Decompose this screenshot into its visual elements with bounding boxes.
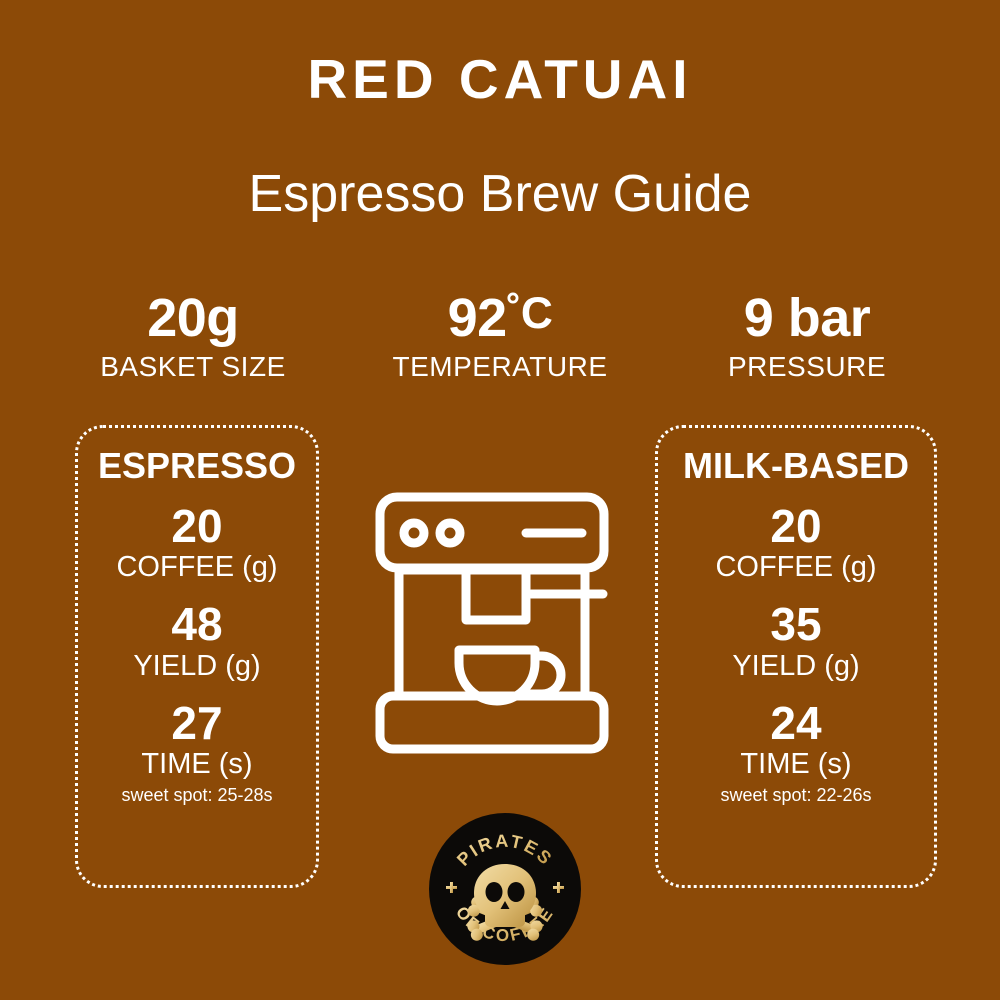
page-subtitle: Espresso Brew Guide xyxy=(0,168,1000,220)
metric-coffee: 20 COFFEE (g) xyxy=(116,502,277,585)
metric-time: 24 TIME (s) sweet spot: 22-26s xyxy=(720,699,871,806)
metric-yield-value: 48 xyxy=(133,600,260,648)
metric-yield-label: YIELD (g) xyxy=(133,650,260,683)
metric-time-note: sweet spot: 25-28s xyxy=(121,785,272,807)
stats-row: 20g BASKET SIZE 92˚C TEMPERATURE 9 bar P… xyxy=(40,290,960,384)
stat-temperature-label: TEMPERATURE xyxy=(347,350,653,384)
degree-celsius-unit: ˚C xyxy=(507,289,553,338)
stat-temperature-value: 92˚C xyxy=(347,290,653,346)
stat-basket-size: 20g BASKET SIZE xyxy=(40,290,346,384)
stat-pressure-label: PRESSURE xyxy=(654,350,960,384)
stat-pressure-value: 9 bar xyxy=(654,290,960,346)
infographic-canvas: RED CATUAI Espresso Brew Guide 20g BASKE… xyxy=(0,0,1000,1000)
recipe-card-espresso-title: ESPRESSO xyxy=(98,446,296,486)
page-title: RED CATUAI xyxy=(0,52,1000,107)
stat-pressure: 9 bar PRESSURE xyxy=(654,290,960,384)
metric-time-value: 27 xyxy=(121,699,272,747)
metric-coffee-value: 20 xyxy=(715,502,876,550)
metric-time-value: 24 xyxy=(720,699,871,747)
metric-time-label: TIME (s) xyxy=(121,748,272,781)
metric-yield: 35 YIELD (g) xyxy=(732,600,859,683)
stat-temperature: 92˚C TEMPERATURE xyxy=(347,290,653,384)
stat-basket-size-value: 20g xyxy=(40,290,346,346)
pirates-of-coffee-logo: PIRATES OF COFFEE xyxy=(429,813,581,965)
metric-time-label: TIME (s) xyxy=(720,748,871,781)
metric-coffee-label: COFFEE (g) xyxy=(116,551,277,584)
recipe-card-milk-based-title: MILK-BASED xyxy=(683,446,909,486)
recipe-card-espresso: ESPRESSO 20 COFFEE (g) 48 YIELD (g) 27 T… xyxy=(75,425,319,888)
metric-yield-value: 35 xyxy=(732,600,859,648)
espresso-machine-icon xyxy=(367,478,637,768)
recipe-card-milk-based: MILK-BASED 20 COFFEE (g) 35 YIELD (g) 24… xyxy=(655,425,937,888)
metric-coffee-label: COFFEE (g) xyxy=(715,551,876,584)
metric-yield-label: YIELD (g) xyxy=(732,650,859,683)
metric-time: 27 TIME (s) sweet spot: 25-28s xyxy=(121,699,272,806)
metric-yield: 48 YIELD (g) xyxy=(133,600,260,683)
metric-time-note: sweet spot: 22-26s xyxy=(720,785,871,807)
metric-coffee: 20 COFFEE (g) xyxy=(715,502,876,585)
stat-temperature-number: 92 xyxy=(448,288,507,348)
metric-coffee-value: 20 xyxy=(116,502,277,550)
stat-basket-size-label: BASKET SIZE xyxy=(40,350,346,384)
